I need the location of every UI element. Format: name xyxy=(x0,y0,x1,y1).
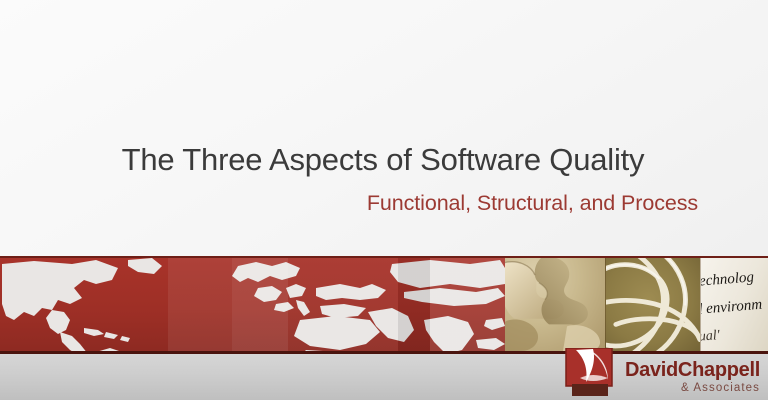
page-subtitle: Functional, Structural, and Process xyxy=(34,191,732,216)
swoosh-icon xyxy=(562,348,618,398)
puzzle-pieces-photo xyxy=(505,258,605,351)
chappell-swoosh-mark-icon xyxy=(562,348,618,398)
world-map-graphic xyxy=(0,258,505,351)
logo-text-block: DavidChappell & Associates xyxy=(625,360,760,400)
document-line-2: d environm xyxy=(700,297,763,319)
title-block: The Three Aspects of Software Quality Fu… xyxy=(0,143,768,216)
logo-company-tagline: & Associates xyxy=(625,383,760,395)
brand-logo: DavidChappell & Associates xyxy=(562,340,760,400)
document-line-1: technolog xyxy=(700,269,755,291)
logo-company-name: DavidChappell xyxy=(625,360,760,380)
world-map-icon xyxy=(0,258,505,351)
page-title: The Three Aspects of Software Quality xyxy=(34,143,732,178)
document-text-photo: technolog d environm tual' xyxy=(700,258,768,351)
presentation-slide: The Three Aspects of Software Quality Fu… xyxy=(0,0,768,400)
puzzle-piece-icon xyxy=(505,258,605,351)
wireframe-sphere-icon xyxy=(606,258,700,351)
wireframe-sphere-photo xyxy=(605,258,700,351)
